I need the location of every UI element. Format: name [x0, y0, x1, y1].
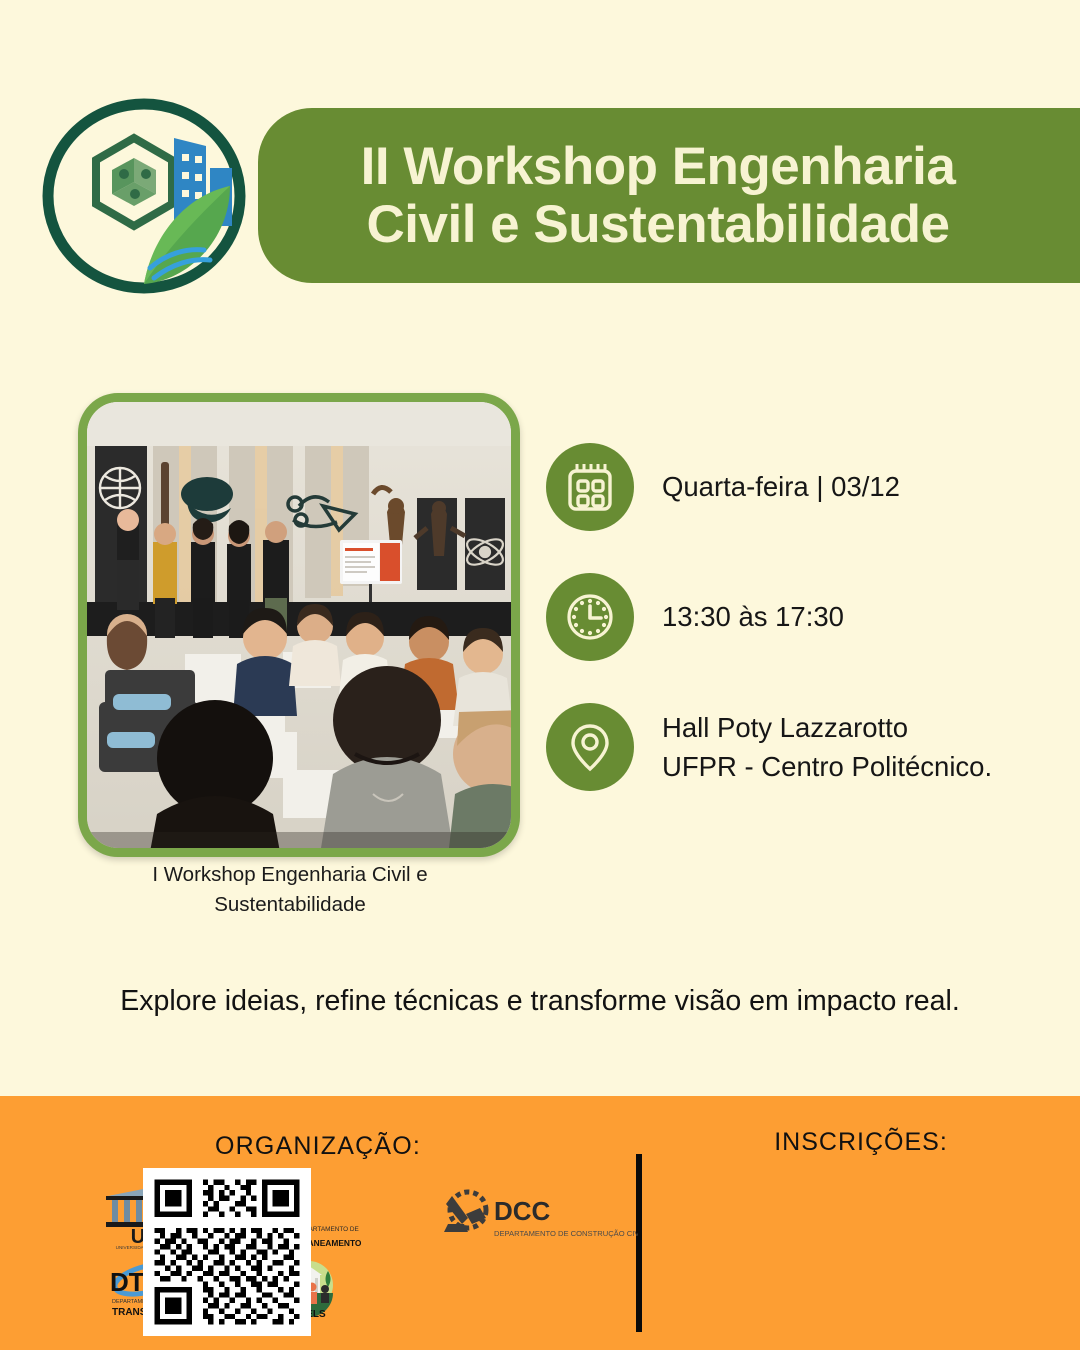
title-line-2: Civil e Sustentabilidade [367, 196, 950, 253]
event-photo [78, 393, 520, 857]
detail-text-location: Hall Poty Lazzarotto UFPR - Centro Polit… [662, 708, 992, 786]
poster-tagline: Explore ideias, refine técnicas e transf… [0, 985, 1080, 1018]
title-line-1: II Workshop Engenharia [361, 138, 956, 195]
svg-text:DEPARTAMENTO DE CONSTRUÇÃO CIV: DEPARTAMENTO DE CONSTRUÇÃO CIVIL [494, 1229, 638, 1238]
workshop-logo [34, 98, 254, 294]
registration-label: INSCRIÇÕES: [642, 1128, 1080, 1157]
title-banner: II Workshop Engenharia Civil e Sustentab… [258, 108, 1080, 283]
detail-row-date: Quarta-feira | 03/12 [546, 443, 1066, 531]
detail-row-location: Hall Poty Lazzarotto UFPR - Centro Polit… [546, 703, 1066, 791]
dcc-logo: DCC DEPARTAMENTO DE CONSTRUÇÃO CIVIL [438, 1184, 638, 1255]
event-details-list: Quarta-feira | 03/12 [546, 443, 1066, 791]
detail-row-time: 13:30 às 17:30 [546, 573, 1066, 661]
detail-text-date: Quarta-feira | 03/12 [662, 467, 900, 506]
clock-icon [546, 573, 634, 661]
poster-footer: ORGANIZAÇÃO: INSCRIÇÕES: [0, 1096, 1080, 1350]
organization-label: ORGANIZAÇÃO: [0, 1132, 636, 1161]
registration-qr-code[interactable] [143, 1168, 311, 1336]
detail-location-line1: Hall Poty Lazzarotto [662, 708, 992, 747]
photo-caption: I Workshop Engenharia Civil e Sustentabi… [78, 860, 502, 919]
svg-text:DCC: DCC [494, 1196, 551, 1226]
detail-location-line2: UFPR - Centro Politécnico. [662, 747, 992, 786]
detail-text-time: 13:30 às 17:30 [662, 597, 844, 636]
detail-date-line1: Quarta-feira | 03/12 [662, 467, 900, 506]
calendar-icon [546, 443, 634, 531]
detail-time-line1: 13:30 às 17:30 [662, 597, 844, 636]
poster-header: II Workshop Engenharia Civil e Sustentab… [0, 0, 1080, 300]
location-pin-icon [546, 703, 634, 791]
event-poster: II Workshop Engenharia Civil e Sustentab… [0, 0, 1080, 1350]
